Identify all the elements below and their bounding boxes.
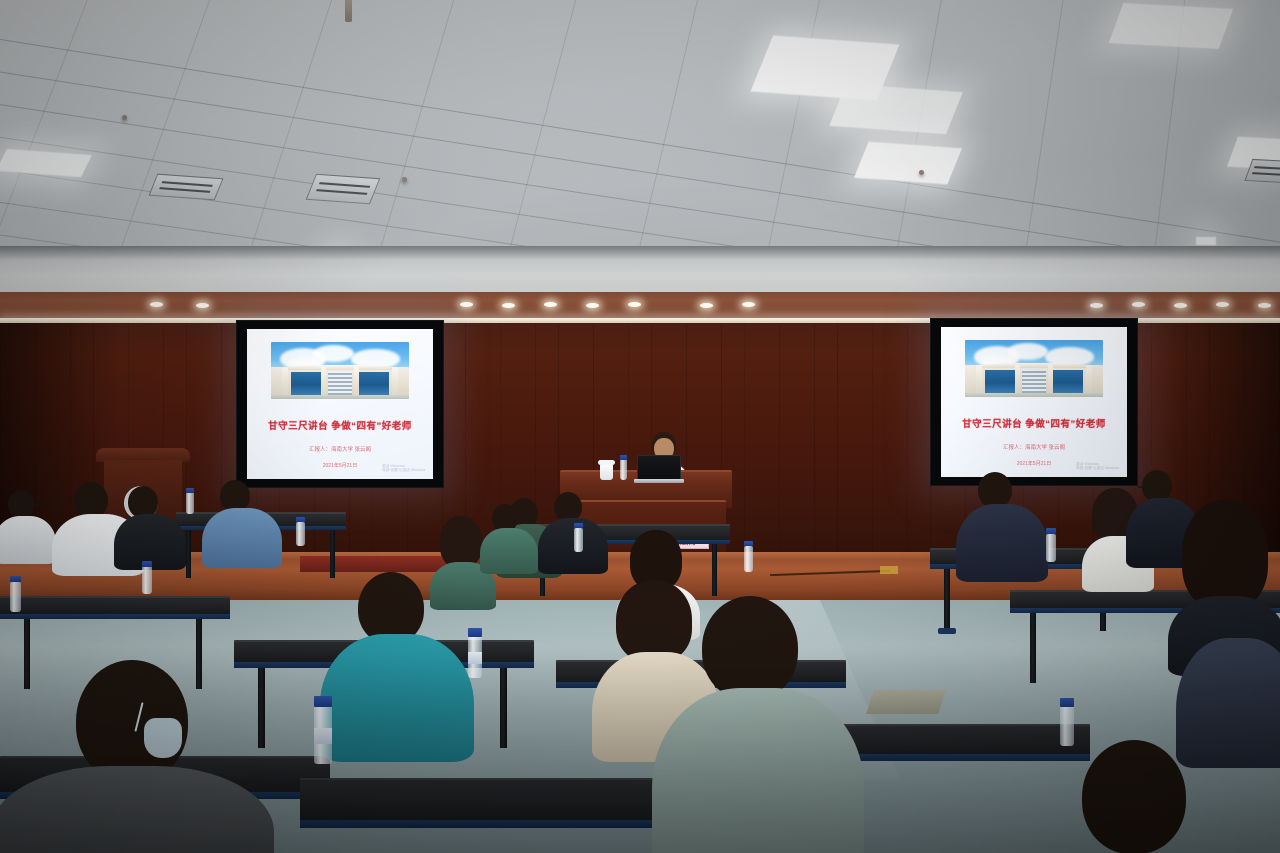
attendee-with-mask: [20, 660, 250, 853]
slide-date: 2021年5月21日: [1017, 460, 1051, 467]
sprinkler-head: [919, 170, 924, 175]
bottle-cap: [296, 517, 305, 522]
ceiling-downlight: [460, 302, 473, 307]
left-projection-screen: 甘守三尺讲台 争做“四有”好老师 汇报人：海南大学 张云阁 2021年5月21日…: [236, 320, 444, 488]
ceiling-downlight: [628, 302, 641, 307]
slide-presenter: 汇报人：海南大学 张云阁: [1003, 443, 1065, 451]
ceiling-panel-light: [829, 84, 963, 134]
floor-mat: [866, 690, 946, 714]
watermark-line-2: 转到“设置”以激活 Windows: [1076, 466, 1119, 470]
building-gate: [1022, 369, 1047, 393]
tea-cup: [600, 464, 613, 480]
ceiling-downlight: [1090, 303, 1103, 308]
attendee: [1042, 740, 1222, 853]
water-bottle: [744, 546, 753, 572]
air-vent: [306, 174, 381, 205]
ceiling-downlight: [586, 303, 599, 308]
windows-activation-watermark: 激活 Windows 转到“设置”以激活 Windows: [1076, 462, 1119, 471]
laptop: [637, 455, 681, 480]
water-bottle: [296, 522, 305, 546]
attendee-torso: [0, 766, 274, 853]
bottle-cap: [10, 576, 21, 582]
slide-title: 甘守三尺讲台 争做“四有”好老师: [962, 416, 1106, 430]
water-bottle: [142, 566, 152, 594]
lecture-hall-photo: 甘守三尺讲台 争做“四有”好老师 汇报人：海南大学 张云阁 2021年5月21日…: [0, 0, 1280, 853]
attendee: [206, 480, 274, 566]
slide-photo: [271, 342, 408, 399]
building-ground: [271, 395, 408, 399]
ceiling-panel-light: [1196, 237, 1216, 245]
desk-row: [0, 596, 230, 616]
desk-leg: [330, 530, 335, 578]
bottle-cap: [744, 541, 753, 546]
sprinkler-head: [402, 177, 407, 182]
sprinkler-head: [345, 0, 352, 22]
bottle-cap: [620, 455, 627, 460]
floor-box: [880, 566, 898, 574]
water-bottle: [620, 459, 627, 480]
desk-leg: [258, 668, 265, 748]
slide-presenter: 汇报人：海南大学 张云阁: [309, 445, 371, 453]
bottle-cap: [574, 523, 583, 528]
attendee: [482, 504, 534, 568]
attendee: [668, 596, 838, 853]
ceiling-downlight: [742, 302, 755, 307]
attendee: [1168, 500, 1280, 660]
desk-foot: [938, 628, 956, 634]
attendee: [960, 472, 1038, 578]
windows-activation-watermark: 激活 Windows 转到“设置”以激活 Windows: [382, 464, 425, 473]
attendee: [540, 492, 602, 570]
laptop-base: [634, 479, 684, 483]
bottle-cap: [1046, 528, 1056, 534]
bottle-cap: [468, 628, 482, 637]
attendee: [330, 572, 460, 752]
ceiling-downlight: [700, 303, 713, 308]
tea-cup-lid: [598, 460, 615, 465]
ceiling-downlight: [1174, 303, 1187, 308]
ceiling-panel-light: [1109, 3, 1233, 49]
watermark-line-2: 转到“设置”以激活 Windows: [382, 468, 425, 472]
desk-leg: [1030, 613, 1036, 683]
bottle-cap: [1060, 698, 1074, 707]
building-roof: [282, 365, 397, 370]
slide-content-right: 甘守三尺讲台 争做“四有”好老师 汇报人：海南大学 张云阁 2021年5月21日…: [941, 327, 1126, 476]
bottle-cap: [142, 561, 152, 567]
desk-leg: [944, 569, 950, 631]
slide-date: 2021年5月21日: [323, 462, 357, 469]
water-bottle: [1060, 706, 1074, 746]
air-vent: [149, 174, 224, 201]
ceiling-downlight: [1258, 303, 1271, 308]
building-gate: [328, 371, 353, 395]
attendee: [118, 486, 178, 566]
water-bottle: [1046, 534, 1056, 562]
ceiling-downlight: [1216, 302, 1229, 307]
ceiling-downlight: [502, 303, 515, 308]
sprinkler-head: [122, 115, 127, 120]
soffit-shadow: [0, 246, 1280, 260]
water-bottle: [574, 528, 583, 552]
bottle-cap: [186, 488, 194, 493]
air-vent: [1244, 159, 1280, 183]
water-bottle: [10, 582, 21, 612]
right-projection-screen: 甘守三尺讲台 争做“四有”好老师 汇报人：海南大学 张云阁 2021年5月21日…: [930, 318, 1138, 486]
attendee: [0, 490, 54, 560]
bottle-cap: [314, 696, 332, 707]
desk-leg: [186, 530, 191, 578]
ceiling-panel-light: [854, 142, 962, 185]
slide-content-left: 甘守三尺讲台 争做“四有”好老师 汇报人：海南大学 张云阁 2021年5月21日…: [247, 329, 432, 478]
bottle-label: [468, 652, 482, 664]
face-mask: [144, 718, 182, 758]
desk-leg: [500, 668, 507, 748]
building-roof: [976, 363, 1091, 368]
building-ground: [965, 393, 1102, 397]
ceiling-downlight: [196, 303, 209, 308]
ceiling-downlight: [544, 302, 557, 307]
water-bottle: [186, 492, 194, 514]
slide-title: 甘守三尺讲台 争做“四有”好老师: [268, 418, 412, 432]
slide-photo: [965, 340, 1102, 397]
bottle-label: [314, 728, 332, 744]
ceiling-downlight: [1132, 302, 1145, 307]
ceiling-downlight: [150, 302, 163, 307]
